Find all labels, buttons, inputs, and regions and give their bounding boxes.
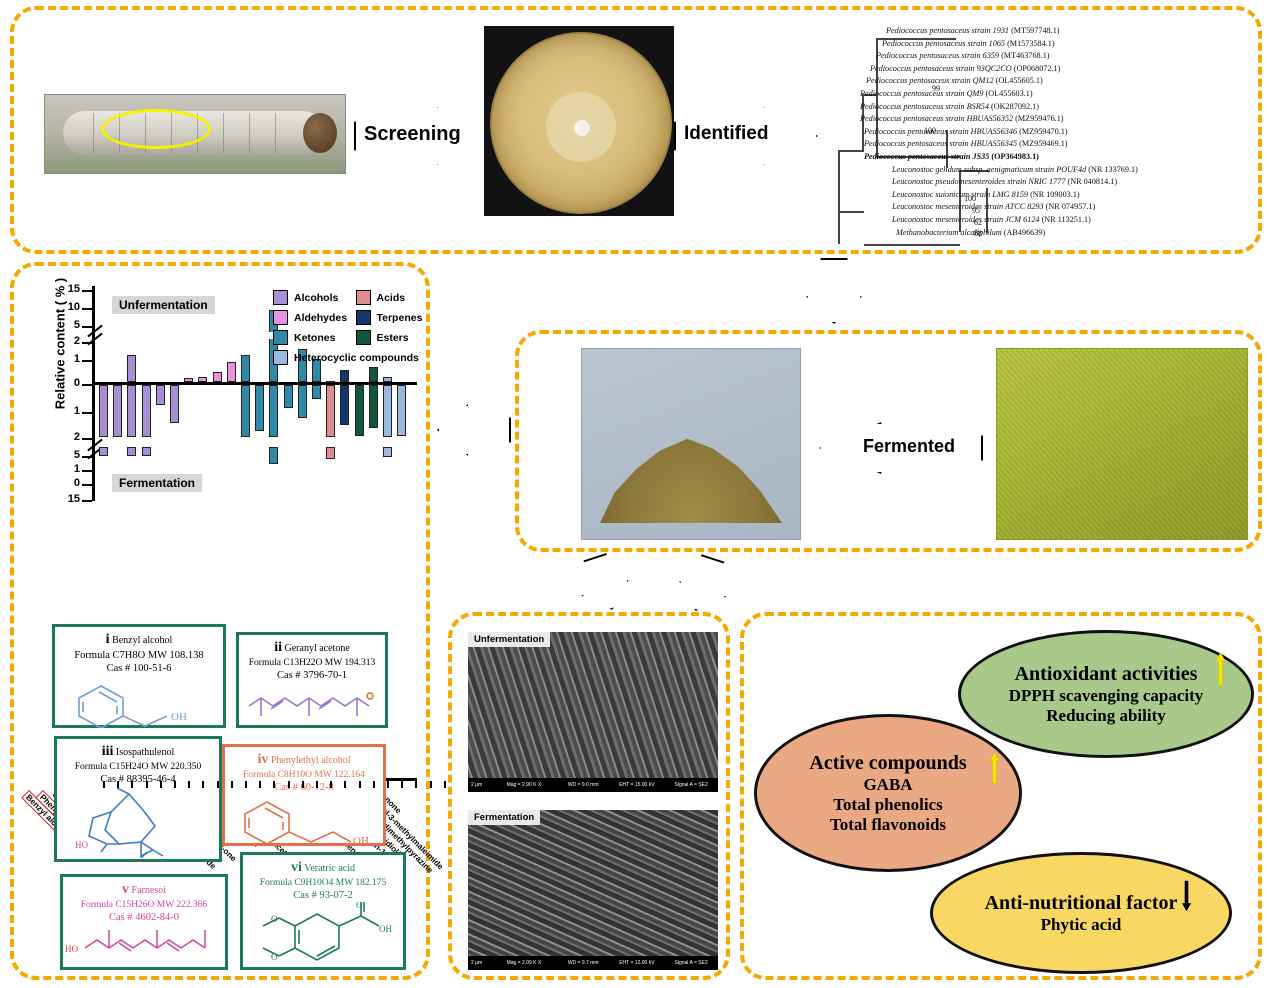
raw-green-powder-photo: [996, 348, 1248, 540]
tree-taxon: Leuconostoc pseudomesenteroides strain N…: [892, 177, 1117, 186]
benzyl-alcohol-structure-icon: OH: [55, 676, 225, 728]
antioxidant-line-1: DPPH scavenging capacity: [1009, 686, 1204, 706]
tree-taxon: Pediococcus pentosaceus strain 93QC2CO (…: [870, 64, 1060, 73]
y-tick: [82, 438, 92, 440]
legend-swatch: [273, 310, 288, 325]
fermentation-panel: Fermented: [515, 330, 1262, 552]
tree-taxon: Pediococcus pentosaceus strain 6359 (MT4…: [876, 51, 1050, 60]
agar-plate-photo: [484, 26, 674, 216]
x-tick: [359, 781, 361, 788]
x-tick: [288, 781, 290, 788]
tree-taxon: Leuconostoc mesenteroides strain ATCC 82…: [892, 202, 1095, 211]
arrow-up-icon: [990, 751, 999, 785]
y-tick-label: 1: [44, 463, 80, 475]
x-tick: [217, 781, 219, 788]
screening-arrow: Screening: [354, 106, 484, 162]
insect-larva-photo: [44, 94, 346, 174]
bar-negative: [255, 385, 264, 431]
y-tick: [82, 384, 92, 386]
structure-formula: Formula C9H10O4 MW 182.175: [243, 877, 403, 889]
sem-scalebar-bottom: 2 µm Mag = 2.09 K X WD = 9.7 mm EHT = 12…: [468, 956, 718, 970]
active-compounds-line-1: GABA: [863, 775, 912, 795]
x-tick: [330, 781, 332, 788]
legend-row: AldehydesTerpenes: [273, 310, 438, 325]
legend-row: KetonesEsters: [273, 330, 438, 345]
svg-text:O: O: [271, 914, 278, 924]
legend-label: Ketones: [294, 332, 335, 344]
bar-positive: [326, 381, 335, 383]
sem-image-unfermentation: Unfermentation 2 µm Mag = 2.90 K X WD = …: [468, 632, 718, 792]
farnesol-structure-icon: HO: [63, 924, 227, 966]
x-tick: [316, 781, 318, 788]
active-compounds-line-3: Total flavonoids: [830, 815, 946, 835]
volatile-compounds-chart-panel: Relative content ( % ) 151052101251015 U…: [10, 262, 430, 980]
x-tick: [103, 781, 105, 788]
y-tick-label: 10: [44, 301, 80, 313]
legend-item-heterocyclic-compounds: Heterocyclic compounds: [273, 350, 438, 365]
signal-value: Signal A = SE2: [675, 960, 718, 966]
eht-value: EHT = 15.00 kV: [619, 782, 674, 788]
wd-value: WD = 9.7 mm: [568, 960, 619, 966]
antinutritional-line-1: Phytic acid: [1041, 915, 1122, 935]
y-tick-label: 0: [44, 477, 80, 489]
tree-taxon: Pediococcus pentosaceus strain HBUAS5635…: [860, 114, 1064, 123]
bar-positive: [198, 377, 207, 382]
screening-label: Screening: [354, 123, 461, 146]
y-tick-label: 1: [44, 405, 80, 417]
tree-taxon: Leuconostoc gelidum subsp. aenigmaticum …: [892, 165, 1138, 174]
structure-cas: Cas # 4602-84-0: [63, 911, 225, 925]
x-tick: [231, 781, 233, 788]
y-tick: [82, 412, 92, 414]
bar-negative: [99, 385, 108, 437]
y-tick-label: 15: [44, 493, 80, 505]
structure-formula: Formula C7H8O MW 108.138: [55, 649, 223, 663]
structure-title: iii Isospathulenol: [57, 743, 219, 761]
active-compounds-ellipse: Active compounds GABA Total phenolics To…: [754, 714, 1022, 872]
y-tick: [82, 500, 92, 502]
isospathulenol-structure-icon: HO: [57, 786, 221, 858]
bootstrap-value: 100: [924, 126, 936, 135]
structure-cas: Cas # 93-07-2: [243, 889, 403, 903]
bacterial-colony: [573, 119, 591, 137]
bar-negative: [284, 385, 293, 408]
legend-row: AlcoholsAcids: [273, 290, 438, 305]
veratric-acid-structure-icon: O O O OH: [243, 902, 405, 968]
mag-value: Mag = 2.90 K X: [507, 782, 568, 788]
bar-positive: [241, 355, 250, 383]
legend-item-alcohols: Alcohols: [273, 290, 356, 305]
x-tick: [146, 781, 148, 788]
bar-negative: [156, 385, 165, 405]
antioxidant-activities-ellipse: Antioxidant activities DPPH scavenging c…: [958, 630, 1254, 758]
structure-box-benzyl-alcohol: i Benzyl alcohol Formula C7H8O MW 108.13…: [52, 624, 226, 728]
bar-negative: [298, 385, 307, 418]
scale-value: 2 µm: [468, 782, 507, 788]
x-tick: [202, 781, 204, 788]
structure-formula: Formula C13H22O MW 194.313: [239, 657, 385, 669]
y-tick-label: 2: [44, 335, 80, 347]
tree-taxon: Pediococcus pentosaceus strain 1931 (MT5…: [886, 26, 1060, 35]
svg-text:OH: OH: [353, 835, 369, 846]
bar-negative: [326, 385, 335, 437]
svg-text:O: O: [356, 902, 363, 910]
signal-value: Signal A = SE2: [675, 782, 718, 788]
bar-negative: [113, 385, 122, 437]
tree-taxon: Pediococcus pentosaceus strain JS35 (OP3…: [864, 152, 1039, 161]
structure-title: vi Veratric acid: [243, 859, 403, 877]
structure-title: i Benzyl alcohol: [55, 631, 223, 649]
y-tick-label: 5: [44, 319, 80, 331]
legend-label: Esters: [377, 332, 409, 344]
fermented-powder-photo: [581, 348, 801, 540]
y-tick: [82, 326, 92, 328]
relative-content-bar-chart: Relative content ( % ) 151052101251015 U…: [30, 278, 420, 528]
bar-negative-lower-segment: [99, 447, 108, 456]
legend-item-esters: Esters: [356, 330, 439, 345]
structure-formula: Formula C8H10O MW 122.164: [225, 769, 383, 781]
structure-box-isospathulenol: iii Isospathulenol Formula C15H24O MW 22…: [54, 736, 222, 862]
arrow-down-to-fermentation: [806, 258, 858, 320]
bar-negative: [383, 385, 392, 437]
legend-swatch: [356, 330, 371, 345]
structure-title: v Farnesoi: [63, 881, 225, 899]
results-summary-panel: Antioxidant activities DPPH scavenging c…: [740, 612, 1262, 980]
legend-row: Heterocyclic compounds: [273, 350, 438, 365]
y-tick: [82, 484, 92, 486]
x-tick: [444, 781, 446, 788]
geranyl-acetone-structure-icon: [239, 682, 387, 722]
antioxidant-line-2: Reducing ability: [1046, 706, 1166, 726]
phenylethyl-alcohol-structure-icon: OH: [225, 794, 385, 846]
legend-label: Alcohols: [294, 292, 338, 304]
tree-taxon: Leuconostoc mesenteroides strain JCM 612…: [892, 215, 1091, 224]
bar-negative: [369, 385, 378, 428]
tree-taxon: Pediococcus pentosaceus strain QM12 (OL4…: [866, 76, 1043, 85]
x-tick: [430, 781, 432, 788]
x-tick: [344, 781, 346, 788]
bar-negative: [269, 385, 278, 437]
bar-negative: [355, 385, 364, 436]
legend-swatch: [273, 330, 288, 345]
x-tick: [373, 781, 375, 788]
active-compounds-line-2: Total phenolics: [833, 795, 942, 815]
larva-head: [303, 113, 337, 153]
y-tick-label: 15: [44, 283, 80, 295]
y-tick-label: 5: [44, 449, 80, 461]
bootstrap-value: 99: [932, 84, 940, 93]
svg-text:HO: HO: [65, 944, 78, 954]
structure-cas: Cas # 3796-70-1: [239, 669, 385, 683]
x-tick: [245, 781, 247, 788]
bar-positive: [340, 370, 349, 382]
legend-label: Terpenes: [377, 312, 423, 324]
y-tick: [82, 360, 92, 362]
chart-legend: AlcoholsAcidsAldehydesTerpenesKetonesEst…: [273, 290, 438, 370]
active-compounds-title: Active compounds: [809, 752, 966, 775]
bar-positive: [184, 378, 193, 382]
bar-negative: [142, 385, 151, 437]
x-tick: [273, 781, 275, 788]
x-tick: [188, 781, 190, 788]
bar-negative: [241, 385, 250, 437]
bar-negative: [127, 385, 136, 437]
bar-negative: [312, 385, 321, 399]
sem-fermentation-label: Fermentation: [468, 810, 540, 825]
legend-item-aldehydes: Aldehydes: [273, 310, 356, 325]
legend-label: Aldehydes: [294, 312, 347, 324]
bootstrap-value: 100: [964, 194, 976, 203]
bar-negative: [397, 385, 406, 436]
sem-unfermentation-label: Unfermentation: [468, 632, 550, 647]
bar-positive: [383, 377, 392, 382]
arrow-down-icon: [1182, 879, 1191, 913]
svg-text:OH: OH: [171, 711, 187, 723]
bar-negative-lower-segment: [269, 447, 278, 464]
tree-taxon: Pediococcus pentosaceus strain 1065 (M15…: [882, 39, 1055, 48]
y-tick-label: 0: [44, 377, 80, 389]
legend-item-acids: Acids: [356, 290, 439, 305]
structure-box-phenylethyl-alcohol: iv Phenylethyl alcohol Formula C8H10O MW…: [222, 744, 386, 846]
tree-taxon: Pediococcus pentosaceus strain QM9 (OL45…: [860, 89, 1033, 98]
legend-swatch: [356, 290, 371, 305]
y-tick: [82, 308, 92, 310]
x-tick: [131, 781, 133, 788]
bar-negative-lower-segment: [383, 447, 392, 457]
x-tick: [387, 781, 389, 788]
tree-taxon: Leuconostoc suionicum strain LMG 8159 (N…: [892, 190, 1080, 199]
bootstrap-value: 88: [974, 229, 982, 238]
legend-label: Heterocyclic compounds: [294, 352, 419, 364]
arrow-left-to-chart: [437, 404, 507, 452]
anti-nutritional-factor-ellipse: Anti-nutritional factor Phytic acid: [930, 852, 1232, 974]
petri-dish: [490, 32, 672, 214]
antioxidant-title: Antioxidant activities: [1015, 663, 1198, 686]
legend-swatch: [273, 350, 288, 365]
y-tick: [82, 290, 92, 292]
x-tick: [160, 781, 162, 788]
wd-value: WD = 9.0 mm: [568, 782, 619, 788]
bar-negative: [340, 385, 349, 425]
phylogenetic-tree: Pediococcus pentosaceus strain 1931 (MT5…: [814, 22, 1262, 248]
bar-negative-lower-segment: [142, 447, 151, 456]
eht-value: EHT = 12.00 kV: [619, 960, 674, 966]
tree-taxon: Pediococcus pentosaceus strain HBUAS5634…: [864, 139, 1068, 148]
tree-taxon: Pediococcus pentosaceus strain HBUAS5634…: [864, 127, 1068, 136]
tree-taxon: Methanobacterium alcaliphilum (AB496639): [896, 228, 1045, 237]
powder-heap: [600, 415, 782, 523]
structure-formula: Formula C15H24O MW 220.350: [57, 761, 219, 773]
structure-title: ii Geranyl acetone: [239, 639, 385, 657]
arrow-down-to-results: [673, 550, 733, 614]
y-tick: [82, 470, 92, 472]
identified-arrow: Identified: [674, 106, 814, 162]
fermented-arrow: Fermented: [819, 422, 979, 470]
structure-title: iv Phenylethyl alcohol: [225, 751, 383, 769]
svg-text:O: O: [271, 952, 278, 962]
identified-label: Identified: [674, 123, 768, 145]
x-tick: [302, 781, 304, 788]
structure-cas: Cas # 100-51-6: [55, 662, 223, 676]
bar-negative-lower-segment: [326, 447, 335, 459]
svg-text:OH: OH: [379, 924, 392, 934]
bar-positive: [213, 372, 222, 382]
structure-box-veratric-acid: vi Veratric acid Formula C9H10O4 MW 182.…: [240, 852, 406, 970]
antinutritional-title: Anti-nutritional factor: [985, 892, 1178, 915]
x-tick: [174, 781, 176, 788]
tree-taxon: Pediococcus pentosaceus strain BSR54 (OK…: [860, 102, 1039, 111]
bar-positive: [227, 362, 236, 382]
legend-item-ketones: Ketones: [273, 330, 356, 345]
screening-identification-panel: Screening Identified Pediococcus pentosa…: [10, 6, 1262, 254]
arrow-up-icon: [1216, 651, 1225, 687]
x-tick: [415, 781, 417, 788]
arrow-down-to-sem: [571, 550, 631, 614]
unfermentation-tag: Unfermentation: [112, 296, 215, 314]
highlight-ellipse-icon: [101, 109, 211, 149]
bar-negative-lower-segment: [127, 447, 136, 456]
structure-formula: Formula C15H26O MW 222.366: [63, 899, 225, 911]
svg-text:HO: HO: [75, 840, 88, 850]
x-tick: [401, 781, 403, 788]
structure-cas: Cas # 88395-46-4: [57, 773, 219, 787]
bar-positive: [127, 355, 136, 383]
mag-value: Mag = 2.09 K X: [507, 960, 568, 966]
x-tick: [259, 781, 261, 788]
legend-swatch: [273, 290, 288, 305]
fermentation-tag: Fermentation: [112, 474, 202, 492]
legend-item-terpenes: Terpenes: [356, 310, 439, 325]
bar-negative: [170, 385, 179, 423]
x-tick: [117, 781, 119, 788]
structure-box-geranyl-acetone: ii Geranyl acetone Formula C13H22O MW 19…: [236, 632, 388, 728]
structure-box-farnesol: v Farnesoi Formula C15H26O MW 222.366 Ca…: [60, 874, 228, 970]
sem-scalebar-top: 2 µm Mag = 2.90 K X WD = 9.0 mm EHT = 15…: [468, 778, 718, 792]
legend-swatch: [356, 310, 371, 325]
legend-label: Acids: [377, 292, 406, 304]
sem-image-fermentation: Fermentation 2 µm Mag = 2.09 K X WD = 9.…: [468, 810, 718, 970]
y-tick-label: 1: [44, 353, 80, 365]
fermented-label: Fermented: [819, 436, 955, 457]
scale-value: 2 µm: [468, 960, 507, 966]
bootstrap-value: 62: [974, 218, 982, 227]
bootstrap-value: 95: [972, 206, 980, 215]
y-tick-label: 2: [44, 431, 80, 443]
sem-images-panel: Unfermentation 2 µm Mag = 2.90 K X WD = …: [448, 612, 730, 980]
